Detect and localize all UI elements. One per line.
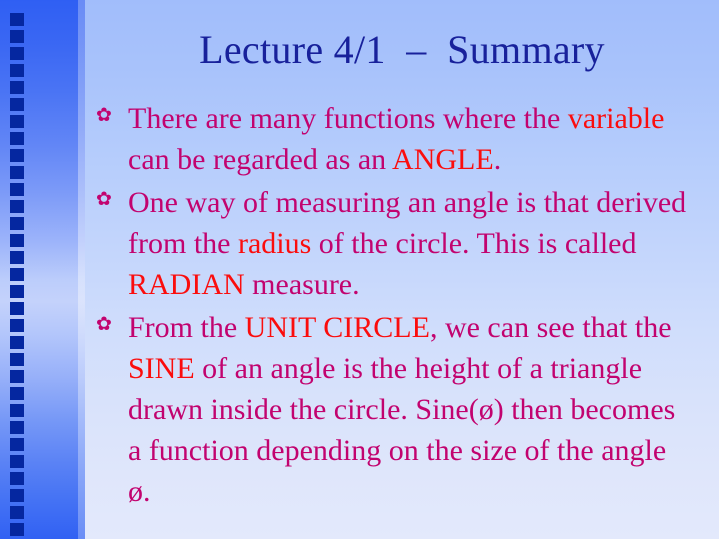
sidebar-square [10, 13, 24, 26]
sidebar-square [10, 285, 24, 298]
bullet-item-1: ✿ There are many functions where the var… [96, 98, 696, 180]
sidebar-square [10, 421, 24, 434]
sidebar-square [10, 319, 24, 332]
sidebar-square [10, 455, 24, 468]
flower-bullet-icon: ✿ [96, 309, 120, 339]
body-text-run: of the circle. This is called [311, 227, 636, 260]
body-text-run: measure. [245, 268, 360, 301]
sidebar-square [10, 81, 24, 94]
bullet-item-3-text: From the UNIT CIRCLE, we can see that th… [128, 307, 696, 512]
emphasised-term: UNIT CIRCLE [245, 311, 430, 344]
bullet-item-2: ✿ One way of measuring an angle is that … [96, 182, 696, 305]
body-text-run: From the [128, 311, 245, 344]
emphasised-term: SINE [128, 352, 195, 385]
flower-bullet-icon: ✿ [96, 184, 120, 214]
emphasised-term: radius [238, 227, 311, 260]
sidebar-square [10, 489, 24, 502]
bullet-item-3: ✿ From the UNIT CIRCLE, we can see that … [96, 307, 696, 512]
emphasised-term: ANGLE [392, 143, 494, 176]
sidebar-square [10, 268, 24, 281]
emphasised-term: RADIAN [128, 268, 245, 301]
presentation-slide: Lecture 4/1 – Summary ✿ There are many f… [0, 0, 719, 539]
sidebar-square [10, 387, 24, 400]
sidebar-square [10, 98, 24, 111]
sidebar-square [10, 47, 24, 60]
sidebar-square [10, 438, 24, 451]
sidebar-square [10, 30, 24, 43]
sidebar-square [10, 336, 24, 349]
sidebar-edge-highlight [78, 0, 85, 539]
sidebar-square [10, 234, 24, 247]
body-text-run: , we can see that the [430, 311, 672, 344]
sidebar-square [10, 115, 24, 128]
sidebar-square [10, 251, 24, 264]
bullet-item-1-text: There are many functions where the varia… [128, 98, 696, 180]
sidebar-square [10, 404, 24, 417]
sidebar-square [10, 149, 24, 162]
sidebar-square [10, 183, 24, 196]
slide-body: ✿ There are many functions where the var… [96, 98, 696, 514]
sidebar-square [10, 166, 24, 179]
body-text-run: of an angle is the height of a triangle … [128, 352, 675, 508]
sidebar-square [10, 472, 24, 485]
slide-title: Lecture 4/1 – Summary [85, 26, 719, 74]
bullet-item-2-text: One way of measuring an angle is that de… [128, 182, 696, 305]
sidebar-square [10, 506, 24, 519]
sidebar-square [10, 217, 24, 230]
sidebar-square [10, 200, 24, 213]
sidebar-square [10, 64, 24, 77]
sidebar-square [10, 370, 24, 383]
body-text-run: can be regarded as an [128, 143, 392, 176]
flower-bullet-icon: ✿ [96, 100, 120, 130]
body-text-run: . [494, 143, 502, 176]
emphasised-term: variable [568, 102, 665, 135]
sidebar-square [10, 132, 24, 145]
body-text-run: There are many functions where the [128, 102, 568, 135]
sidebar-square [10, 353, 24, 366]
sidebar-square [10, 523, 24, 536]
sidebar-square [10, 302, 24, 315]
slide-decorative-sidebar [0, 0, 85, 539]
